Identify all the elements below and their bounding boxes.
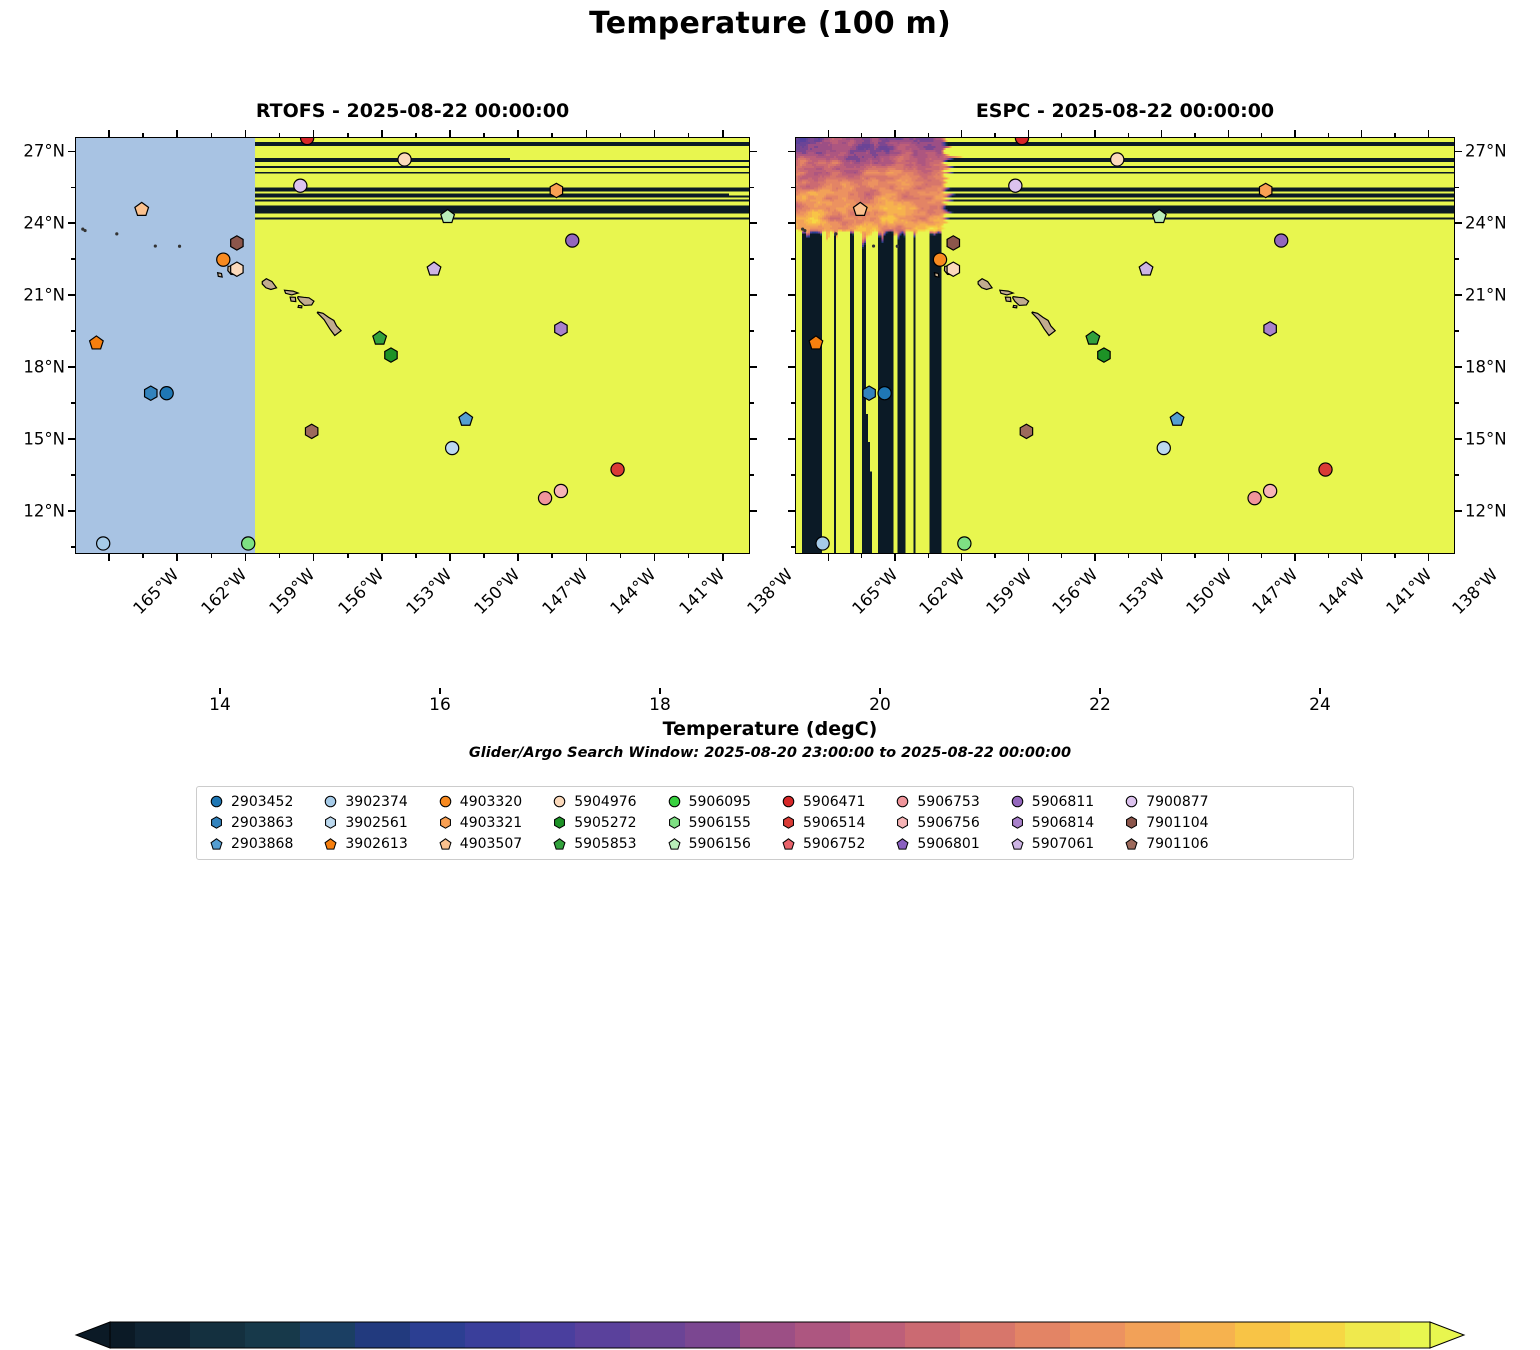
- float-marker[interactable]: [1259, 183, 1271, 197]
- xtick-label: 147°W: [1249, 565, 1302, 618]
- hexagon-marker-icon: [895, 815, 910, 830]
- xtick-label: 138°W: [743, 565, 796, 618]
- ytick-label: 24°N: [23, 214, 65, 233]
- xtick-major: [108, 554, 110, 561]
- xtick-label: 165°W: [129, 565, 182, 618]
- ytick-label: 27°N: [23, 142, 65, 161]
- ytick-label: 15°N: [1465, 429, 1507, 448]
- island-outline: [262, 279, 276, 290]
- pentagon-marker-icon: [209, 837, 224, 852]
- colorbar-tick-label: 22: [1089, 695, 1111, 715]
- xtick-minor: [1128, 554, 1130, 558]
- ytick-minor-right: [1455, 474, 1459, 476]
- overlay-rtofs: [76, 138, 749, 553]
- xtick-major-top: [176, 130, 178, 137]
- xtick-label: 150°W: [1182, 565, 1235, 618]
- xtick-minor: [1328, 554, 1330, 558]
- float-marker[interactable]: [1139, 262, 1153, 275]
- legend-item[interactable]: 3902374: [317, 794, 431, 810]
- xtick-major-top: [828, 130, 830, 137]
- legend-item[interactable]: 4903507: [432, 836, 546, 852]
- colorbar-tick: [439, 688, 440, 694]
- legend-item-label: 5906471: [803, 794, 865, 810]
- island-outline: [298, 305, 302, 307]
- island-outline: [1013, 297, 1029, 306]
- xtick-label: 156°W: [1049, 565, 1102, 618]
- xtick-major: [1094, 554, 1096, 561]
- panel-title-rtofs: RTOFS - 2025-08-22 00:00:00: [75, 100, 750, 122]
- legend-item-label: 5906514: [803, 815, 865, 831]
- circle-marker-icon: [552, 794, 567, 809]
- float-marker[interactable]: [385, 348, 397, 362]
- legend-item-label: 7901104: [1146, 815, 1208, 831]
- circle-marker-icon: [438, 794, 453, 809]
- legend-item-label: 5906752: [803, 836, 865, 852]
- islet-marker: [154, 244, 157, 247]
- islet-marker: [115, 232, 118, 235]
- float-marker[interactable]: [373, 331, 387, 344]
- panel-title-espc: ESPC - 2025-08-22 00:00:00: [795, 100, 1455, 122]
- xtick-major-top: [313, 130, 315, 137]
- xtick-minor: [861, 554, 863, 558]
- xtick-major-top: [381, 130, 383, 137]
- legend-item-label: 5906814: [1032, 815, 1094, 831]
- float-marker[interactable]: [878, 387, 891, 400]
- xtick-major: [176, 554, 178, 561]
- legend-item-label: 5906756: [917, 815, 979, 831]
- xtick-major: [1294, 554, 1296, 561]
- legend-item-label: 2903868: [231, 836, 293, 852]
- ytick-minor-right: [750, 187, 754, 189]
- float-marker[interactable]: [90, 336, 104, 349]
- float-marker[interactable]: [1015, 138, 1028, 145]
- legend-item[interactable]: 3902613: [317, 836, 431, 852]
- ytick-left: [68, 222, 75, 224]
- legend-item[interactable]: 2903863: [203, 815, 317, 831]
- float-marker[interactable]: [231, 236, 243, 250]
- ytick-right: [1455, 438, 1462, 440]
- ytick-right: [1455, 222, 1462, 224]
- xtick-minor: [1261, 554, 1263, 558]
- colorbar-tick-label: 24: [1309, 695, 1331, 715]
- ytick-minor-right: [750, 402, 754, 404]
- legend-item[interactable]: 5906756: [889, 815, 1003, 831]
- legend-item[interactable]: 7900877: [1118, 794, 1232, 810]
- xtick-major-top: [894, 130, 896, 137]
- ytick-left: [68, 366, 75, 368]
- pentagon-marker-icon: [323, 837, 338, 852]
- xtick-major: [828, 554, 830, 561]
- ytick-minor-right: [750, 258, 754, 260]
- float-marker[interactable]: [1264, 484, 1277, 497]
- legend-item-label: 2903863: [231, 815, 293, 831]
- circle-marker-icon: [781, 794, 796, 809]
- colorbar-tick: [219, 688, 220, 694]
- float-marker[interactable]: [1275, 234, 1288, 247]
- xtick-minor: [1061, 554, 1063, 558]
- xtick-label: 162°W: [198, 565, 251, 618]
- ytick-right: [750, 294, 757, 296]
- ytick-minor-right: [1455, 402, 1459, 404]
- xtick-minor: [142, 554, 144, 558]
- hexagon-marker-icon: [1124, 815, 1139, 830]
- map-panel-rtofs[interactable]: [75, 137, 750, 554]
- pentagon-marker-icon: [438, 837, 453, 852]
- float-marker[interactable]: [231, 262, 243, 276]
- colorbar-frame: [110, 1322, 1430, 1348]
- float-marker[interactable]: [135, 202, 149, 215]
- colorbar-tick-label: 18: [649, 695, 671, 715]
- xtick-label: 159°W: [982, 565, 1035, 618]
- xtick-label: 141°W: [675, 565, 728, 618]
- xtick-minor: [415, 554, 417, 558]
- map-panel-espc[interactable]: [795, 137, 1455, 554]
- islet-marker: [896, 245, 899, 248]
- float-marker[interactable]: [853, 202, 867, 215]
- float-marker[interactable]: [398, 153, 411, 166]
- island-outline: [1013, 305, 1017, 307]
- ytick-left: [68, 438, 75, 440]
- island-outline: [934, 273, 938, 277]
- float-marker[interactable]: [1153, 210, 1167, 223]
- legend-item-label: 5906156: [689, 836, 751, 852]
- legend-item[interactable]: 3902561: [317, 815, 431, 831]
- island-outline: [1000, 290, 1013, 295]
- legend-item-label: 3902613: [345, 836, 407, 852]
- xtick-major-top: [1161, 130, 1163, 137]
- xtick-major: [1428, 554, 1430, 561]
- legend-item[interactable]: 5906471: [775, 794, 889, 810]
- xtick-major-top: [586, 130, 588, 137]
- xtick-label: 138°W: [1449, 565, 1502, 618]
- xtick-label: 162°W: [915, 565, 968, 618]
- colorbar-tick: [1319, 688, 1320, 694]
- legend-item-label: 5906095: [689, 794, 751, 810]
- float-marker[interactable]: [441, 210, 455, 223]
- xtick-major: [961, 554, 963, 561]
- ytick-left: [788, 294, 795, 296]
- legend-item-label: 5906753: [917, 794, 979, 810]
- float-marker[interactable]: [1264, 322, 1276, 336]
- legend-item[interactable]: 5906156: [661, 836, 775, 852]
- float-marker[interactable]: [1319, 463, 1332, 476]
- float-marker[interactable]: [809, 336, 823, 349]
- legend-item-label: 2903452: [231, 794, 293, 810]
- colorbar-tick-label: 16: [429, 695, 451, 715]
- float-marker[interactable]: [611, 463, 624, 476]
- float-marker[interactable]: [427, 262, 441, 275]
- xtick-minor: [279, 554, 281, 558]
- legend-item-label: 4903320: [460, 794, 522, 810]
- float-marker[interactable]: [242, 537, 255, 550]
- legend-item[interactable]: 5906811: [1004, 794, 1118, 810]
- float-marker[interactable]: [554, 484, 567, 497]
- float-marker[interactable]: [1009, 179, 1022, 192]
- ytick-label: 12°N: [23, 501, 65, 520]
- legend-grid: 2903452290386329038683902374390256139026…: [203, 791, 1347, 855]
- xtick-major: [1161, 554, 1163, 561]
- colorbar-tick-label: 14: [209, 695, 231, 715]
- float-marker[interactable]: [550, 183, 562, 197]
- ytick-label: 15°N: [23, 429, 65, 448]
- xtick-major: [722, 554, 724, 561]
- float-marker[interactable]: [566, 234, 579, 247]
- island-outline: [978, 279, 992, 290]
- ytick-minor-right: [1455, 187, 1459, 189]
- ytick-right: [750, 222, 757, 224]
- xtick-major-top: [108, 130, 110, 137]
- pentagon-marker-icon: [1010, 837, 1025, 852]
- ytick-label: 21°N: [23, 286, 65, 305]
- island-outline: [1005, 297, 1011, 302]
- xtick-major: [381, 554, 383, 561]
- legend-item[interactable]: 7901106: [1118, 836, 1232, 852]
- ytick-left: [68, 151, 75, 153]
- pentagon-marker-icon: [1124, 837, 1139, 852]
- xtick-major-top: [1294, 130, 1296, 137]
- legend-item[interactable]: 2903452: [203, 794, 317, 810]
- legend-item[interactable]: 2903868: [203, 836, 317, 852]
- hexagon-marker-icon: [438, 815, 453, 830]
- float-marker[interactable]: [446, 441, 459, 454]
- ytick-right: [1455, 366, 1462, 368]
- pentagon-marker-icon: [552, 837, 567, 852]
- legend-item[interactable]: 4903320: [432, 794, 546, 810]
- legend-item[interactable]: 5906752: [775, 836, 889, 852]
- hexagon-marker-icon: [781, 815, 796, 830]
- colorbar-tick-label: 20: [869, 695, 891, 715]
- overlay-espc: [796, 138, 1454, 553]
- xtick-major: [517, 554, 519, 561]
- pentagon-marker-icon: [895, 837, 910, 852]
- float-marker[interactable]: [145, 386, 157, 400]
- xtick-minor: [928, 554, 930, 558]
- xtick-label: 165°W: [849, 565, 902, 618]
- legend-item[interactable]: 5905853: [546, 836, 660, 852]
- legend-item[interactable]: 5906095: [661, 794, 775, 810]
- ytick-left: [788, 222, 795, 224]
- island-outline: [290, 297, 296, 302]
- ytick-left: [788, 151, 795, 153]
- legend-item[interactable]: 5906814: [1004, 815, 1118, 831]
- colorbar-label: Temperature (degC): [0, 718, 1540, 740]
- xtick-minor: [551, 554, 553, 558]
- float-marker[interactable]: [1020, 424, 1032, 438]
- xtick-label: 159°W: [266, 565, 319, 618]
- legend-item-label: 5905853: [574, 836, 636, 852]
- ytick-right: [750, 438, 757, 440]
- float-marker[interactable]: [217, 253, 230, 266]
- xtick-major-top: [722, 130, 724, 137]
- colorbar-tick: [879, 688, 880, 694]
- float-marker[interactable]: [947, 262, 959, 276]
- float-marker[interactable]: [933, 253, 946, 266]
- ytick-minor-right: [1455, 330, 1459, 332]
- float-marker[interactable]: [816, 537, 829, 550]
- ytick-label: 12°N: [1465, 501, 1507, 520]
- ytick-right: [750, 366, 757, 368]
- float-marker[interactable]: [1248, 492, 1261, 505]
- ytick-right: [750, 151, 757, 153]
- xtick-label: 147°W: [539, 565, 592, 618]
- xtick-minor: [688, 554, 690, 558]
- float-id-legend: 2903452290386329038683902374390256139026…: [196, 786, 1354, 860]
- ytick-right: [750, 510, 757, 512]
- xtick-major: [586, 554, 588, 561]
- float-marker[interactable]: [305, 424, 317, 438]
- colorbar-min-arrow: [76, 1322, 110, 1348]
- legend-item-label: 5904976: [574, 794, 636, 810]
- xtick-major-top: [1028, 130, 1030, 137]
- ytick-label: 18°N: [23, 358, 65, 377]
- legend-item[interactable]: 7901104: [1118, 815, 1232, 831]
- float-marker[interactable]: [1098, 348, 1110, 362]
- ytick-right: [1455, 151, 1462, 153]
- legend-item[interactable]: 5905272: [546, 815, 660, 831]
- xtick-major-top: [449, 130, 451, 137]
- xtick-major: [1028, 554, 1030, 561]
- colorbar: [0, 660, 1540, 690]
- xtick-label: 141°W: [1382, 565, 1435, 618]
- islet-marker: [83, 229, 86, 232]
- islet-marker: [803, 229, 806, 232]
- ytick-left: [788, 510, 795, 512]
- islet-marker: [872, 244, 875, 247]
- ytick-label: 18°N: [1465, 358, 1507, 377]
- circle-marker-icon: [1010, 794, 1025, 809]
- xtick-major: [313, 554, 315, 561]
- island-outline: [298, 297, 314, 306]
- legend-item-label: 3902561: [345, 815, 407, 831]
- float-marker[interactable]: [1111, 153, 1124, 166]
- xtick-label: 153°W: [1115, 565, 1168, 618]
- float-marker[interactable]: [160, 387, 173, 400]
- circle-marker-icon: [667, 794, 682, 809]
- legend-item-label: 4903507: [460, 836, 522, 852]
- island-outline: [1032, 312, 1055, 335]
- legend-item[interactable]: 5906514: [775, 815, 889, 831]
- float-marker[interactable]: [97, 537, 110, 550]
- float-marker[interactable]: [555, 322, 567, 336]
- xtick-major: [1361, 554, 1363, 561]
- legend-item[interactable]: 5906801: [889, 836, 1003, 852]
- float-marker[interactable]: [947, 236, 959, 250]
- legend-item-label: 7901106: [1146, 836, 1208, 852]
- legend-item[interactable]: 5906753: [889, 794, 1003, 810]
- legend-item[interactable]: 5906155: [661, 815, 775, 831]
- hexagon-marker-icon: [209, 815, 224, 830]
- xtick-minor: [1194, 554, 1196, 558]
- float-marker[interactable]: [538, 492, 551, 505]
- float-marker[interactable]: [301, 138, 314, 145]
- ytick-right: [1455, 510, 1462, 512]
- circle-marker-icon: [323, 794, 338, 809]
- hexagon-marker-icon: [1010, 815, 1025, 830]
- pentagon-marker-icon: [781, 837, 796, 852]
- island-outline: [317, 312, 341, 335]
- search-window-text: Glider/Argo Search Window: 2025-08-20 23…: [0, 745, 1540, 761]
- ytick-label: 21°N: [1465, 286, 1507, 305]
- xtick-major-top: [1361, 130, 1363, 137]
- legend-item[interactable]: 5904976: [546, 794, 660, 810]
- xtick-label: 156°W: [334, 565, 387, 618]
- xtick-major-top: [1228, 130, 1230, 137]
- ytick-left: [788, 438, 795, 440]
- xtick-major: [1228, 554, 1230, 561]
- float-marker[interactable]: [1157, 441, 1170, 454]
- ytick-left: [68, 510, 75, 512]
- colorbar-tick: [1099, 688, 1100, 694]
- hexagon-marker-icon: [667, 815, 682, 830]
- legend-item-label: 3902374: [345, 794, 407, 810]
- xtick-label: 150°W: [470, 565, 523, 618]
- ytick-left: [788, 366, 795, 368]
- xtick-major: [894, 554, 896, 561]
- xtick-major-top: [1428, 130, 1430, 137]
- pentagon-marker-icon: [667, 837, 682, 852]
- xtick-major-top: [961, 130, 963, 137]
- figure-title: Temperature (100 m): [0, 6, 1540, 41]
- colorbar-max-arrow: [1430, 1322, 1464, 1348]
- legend-item[interactable]: 4903321: [432, 815, 546, 831]
- island-outline: [218, 273, 223, 277]
- ytick-minor-right: [750, 330, 754, 332]
- xtick-major-top: [517, 130, 519, 137]
- island-outline: [284, 290, 298, 295]
- hexagon-marker-icon: [552, 815, 567, 830]
- xtick-minor: [347, 554, 349, 558]
- xtick-major: [245, 554, 247, 561]
- ytick-label: 27°N: [1465, 142, 1507, 161]
- legend-item-label: 5906155: [689, 815, 751, 831]
- colorbar-tick: [659, 688, 660, 694]
- circle-marker-icon: [209, 794, 224, 809]
- xtick-major-top: [1094, 130, 1096, 137]
- xtick-minor: [994, 554, 996, 558]
- xtick-major-top: [654, 130, 656, 137]
- xtick-major: [449, 554, 451, 561]
- hexagon-marker-icon: [323, 815, 338, 830]
- islet-marker: [178, 245, 181, 248]
- float-marker[interactable]: [863, 386, 875, 400]
- xtick-minor: [211, 554, 213, 558]
- islet-marker: [834, 232, 837, 235]
- legend-item[interactable]: 5907061: [1004, 836, 1118, 852]
- legend-item-label: 4903321: [460, 815, 522, 831]
- xtick-minor: [483, 554, 485, 558]
- float-marker[interactable]: [1086, 331, 1100, 344]
- xtick-label: 144°W: [1315, 565, 1368, 618]
- xtick-label: 144°W: [607, 565, 660, 618]
- float-marker[interactable]: [459, 412, 473, 425]
- xtick-label: 153°W: [402, 565, 455, 618]
- colorbar-arrows: [0, 1320, 1540, 1350]
- float-marker[interactable]: [958, 537, 971, 550]
- circle-marker-icon: [895, 794, 910, 809]
- legend-item-label: 5905272: [574, 815, 636, 831]
- colorbar-ticks: 141618202224: [0, 688, 1540, 714]
- ytick-minor-right: [1455, 258, 1459, 260]
- float-marker[interactable]: [294, 179, 307, 192]
- legend-item-label: 5907061: [1032, 836, 1094, 852]
- xtick-major-top: [245, 130, 247, 137]
- legend-item-label: 5906811: [1032, 794, 1094, 810]
- ytick-left: [68, 294, 75, 296]
- circle-marker-icon: [1124, 794, 1139, 809]
- xtick-major: [654, 554, 656, 561]
- ytick-right: [1455, 294, 1462, 296]
- float-marker[interactable]: [1170, 412, 1184, 425]
